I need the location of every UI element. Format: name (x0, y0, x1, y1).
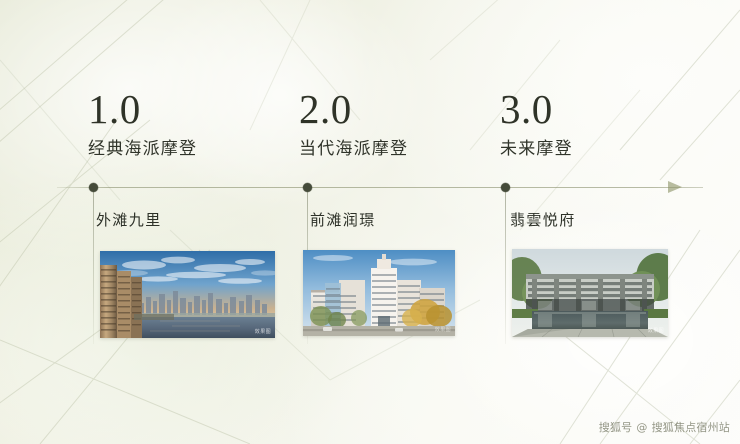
timeline-dot-3[interactable] (501, 183, 510, 192)
watermark-account: 搜狐焦点宿州站 (652, 419, 730, 435)
generation-number-1: 1.0 (88, 89, 197, 130)
project-name-2: 前滩润璟 (310, 213, 376, 228)
watermark: 搜狐号 @ 搜狐焦点宿州站 (599, 419, 730, 435)
timeline-dot-2[interactable] (303, 183, 312, 192)
watermark-at-icon: @ (636, 421, 647, 434)
project-photo-3-image (512, 249, 668, 337)
arrow-right-icon (668, 181, 682, 193)
project-name-3: 翡雲悦府 (510, 213, 576, 228)
project-photo-2-image (303, 250, 455, 336)
project-photo-1[interactable]: 效果图 (100, 251, 275, 338)
timeline-axis (57, 187, 703, 188)
project-photo-2[interactable]: 效果图 (303, 250, 455, 336)
generation-heading-3: 3.0 未来摩登 (500, 89, 573, 158)
project-name-1: 外滩九里 (96, 213, 162, 228)
generation-number-3: 3.0 (500, 89, 573, 130)
timeline-dot-1[interactable] (89, 183, 98, 192)
timeline-stem-1 (93, 192, 94, 344)
project-photo-3[interactable]: 效果图 (512, 249, 668, 337)
timeline-stem-3 (505, 192, 506, 344)
generation-subtitle-3: 未来摩登 (500, 141, 573, 158)
project-block-1[interactable]: 外滩九里 (96, 213, 162, 228)
generation-heading-1: 1.0 经典海派摩登 (88, 89, 197, 158)
project-photo-caption-2: 效果图 (435, 326, 451, 333)
generation-heading-2: 2.0 当代海派摩登 (299, 89, 408, 158)
project-photo-caption-1: 效果图 (255, 328, 271, 335)
generation-subtitle-2: 当代海派摩登 (299, 141, 408, 158)
slide-canvas: 1.0 经典海派摩登 2.0 当代海派摩登 3.0 未来摩登 外滩九里 (0, 0, 740, 444)
generation-subtitle-1: 经典海派摩登 (88, 141, 197, 158)
project-photo-1-image (100, 251, 275, 338)
project-block-2[interactable]: 前滩润璟 (310, 213, 376, 228)
watermark-prefix: 搜狐号 (599, 419, 633, 435)
project-photo-caption-3: 效果图 (648, 327, 664, 334)
generation-number-2: 2.0 (299, 89, 408, 130)
project-block-3[interactable]: 翡雲悦府 (510, 213, 576, 228)
